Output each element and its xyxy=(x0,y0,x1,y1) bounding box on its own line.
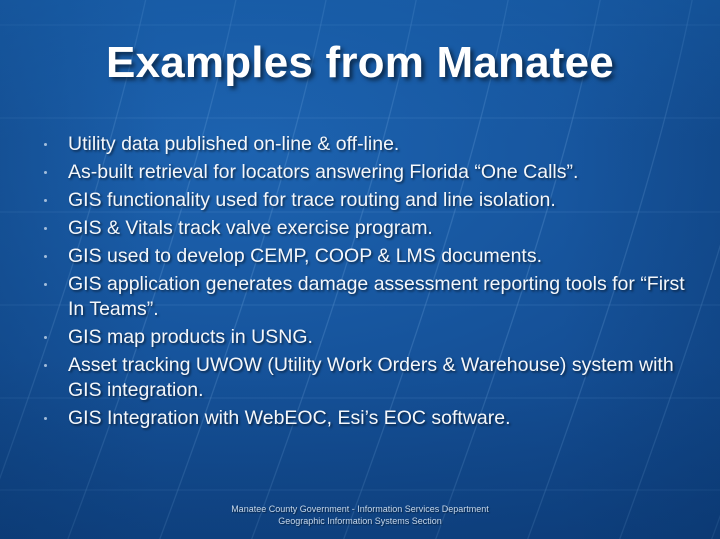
list-item: GIS map products in USNG. xyxy=(40,325,695,350)
bullet-dot-icon xyxy=(44,283,47,286)
bullet-dot-icon xyxy=(44,255,47,258)
bullet-dot-icon xyxy=(44,336,47,339)
slide-footer: Manatee County Government - Information … xyxy=(0,503,720,527)
list-item-label: GIS map products in USNG. xyxy=(68,326,313,348)
list-item-label: As-built retrieval for locators answerin… xyxy=(68,161,578,183)
bullet-list: Utility data published on-line & off-lin… xyxy=(40,132,695,434)
list-item: GIS application generates damage assessm… xyxy=(40,272,695,322)
presentation-slide: Examples from Manatee Utility data publi… xyxy=(0,0,720,539)
bullet-dot-icon xyxy=(44,227,47,230)
list-item: Asset tracking UWOW (Utility Work Orders… xyxy=(40,353,695,403)
footer-line-organization: Manatee County Government - Information … xyxy=(0,503,720,515)
bullet-dot-icon xyxy=(44,171,47,174)
list-item-label: GIS used to develop CEMP, COOP & LMS doc… xyxy=(68,245,542,267)
list-item: GIS functionality used for trace routing… xyxy=(40,188,695,213)
list-item-label: GIS Integration with WebEOC, Esi’s EOC s… xyxy=(68,407,511,429)
bullet-dot-icon xyxy=(44,364,47,367)
list-item: GIS & Vitals track valve exercise progra… xyxy=(40,216,695,241)
bullet-dot-icon xyxy=(44,417,47,420)
list-item-label: GIS application generates damage assessm… xyxy=(68,273,685,320)
list-item: Utility data published on-line & off-lin… xyxy=(40,132,695,157)
slide-title: Examples from Manatee xyxy=(0,38,720,88)
list-item-label: Asset tracking UWOW (Utility Work Orders… xyxy=(68,354,674,401)
list-item-label: Utility data published on-line & off-lin… xyxy=(68,133,399,155)
footer-line-section: Geographic Information Systems Section xyxy=(0,515,720,527)
list-item: As-built retrieval for locators answerin… xyxy=(40,160,695,185)
bullet-dot-icon xyxy=(44,143,47,146)
list-item-label: GIS functionality used for trace routing… xyxy=(68,189,556,211)
list-item-label: GIS & Vitals track valve exercise progra… xyxy=(68,217,433,239)
bullet-dot-icon xyxy=(44,199,47,202)
list-item: GIS Integration with WebEOC, Esi’s EOC s… xyxy=(40,406,695,431)
list-item: GIS used to develop CEMP, COOP & LMS doc… xyxy=(40,244,695,269)
